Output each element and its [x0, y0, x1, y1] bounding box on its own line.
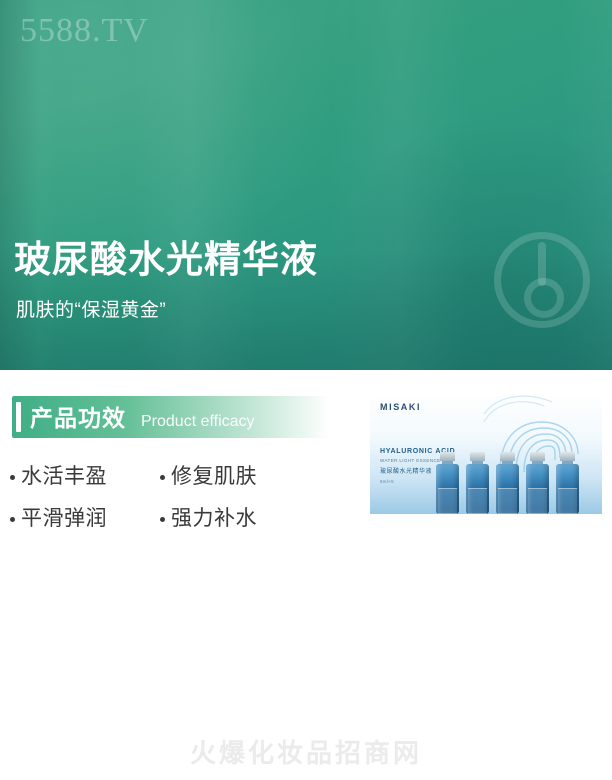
section-heading-en: Product efficacy	[141, 411, 255, 433]
feature-label: 修复肌肤	[171, 460, 257, 494]
vial-body	[496, 464, 519, 514]
section-heading-cn: 产品功效	[30, 403, 126, 433]
efficacy-section: 产品功效 Product efficacy 水活丰盈 修复肌肤 平滑弹润	[0, 370, 612, 780]
list-item: 修复肌肤	[160, 460, 257, 494]
feature-label: 平滑弹润	[21, 502, 107, 536]
ring-swirl-icon	[494, 232, 590, 328]
product-vial-group	[436, 434, 602, 514]
vial-label	[558, 488, 577, 514]
bullet-dot-icon	[10, 517, 15, 522]
vial-cap	[500, 452, 515, 461]
section-heading-accent-bar	[16, 402, 21, 432]
feature-row: 平滑弹润 强力补水	[10, 502, 350, 536]
list-item: 平滑弹润	[10, 502, 160, 536]
list-item: 强力补水	[160, 502, 257, 536]
site-watermark: 5588.TV	[20, 12, 149, 50]
product-brand: MISAKI	[380, 402, 421, 412]
footer-watermark: 火爆化妆品招商网	[0, 733, 612, 770]
bullet-dot-icon	[160, 475, 165, 480]
product-vial	[556, 452, 579, 514]
feature-label: 水活丰盈	[21, 460, 107, 494]
product-detail-page: 5588.TV 玻尿酸水光精华液 肌肤的“保湿黄金” 产品功效 Product …	[0, 0, 612, 780]
hero-banner: 5588.TV 玻尿酸水光精华液 肌肤的“保湿黄金”	[0, 0, 612, 370]
vial-cap	[470, 452, 485, 461]
product-vial	[436, 452, 459, 514]
feature-list: 水活丰盈 修复肌肤 平滑弹润 强力补水	[10, 460, 350, 544]
page-subtitle: 肌肤的“保湿黄金”	[16, 298, 166, 324]
feature-label: 强力补水	[171, 502, 257, 536]
product-title-cn: 玻尿酸水光精华液	[380, 468, 432, 477]
product-image: MISAKI HYALURONIC ACID WATER LIGHT ESSEN…	[370, 392, 602, 514]
vial-label	[438, 488, 457, 514]
bullet-dot-icon	[10, 475, 15, 480]
vial-cap	[530, 452, 545, 461]
list-item: 水活丰盈	[10, 460, 160, 494]
page-title: 玻尿酸水光精华液	[14, 238, 318, 282]
vial-body	[556, 464, 579, 514]
vial-label	[498, 488, 517, 514]
ring-inner-shape	[524, 278, 564, 318]
vial-body	[436, 464, 459, 514]
vial-body	[526, 464, 549, 514]
bullet-dot-icon	[160, 517, 165, 522]
product-subtitle-cn: 5ml×5	[380, 478, 394, 485]
vial-cap	[440, 452, 455, 461]
product-vial	[526, 452, 549, 514]
product-vial	[496, 452, 519, 514]
product-vial	[466, 452, 489, 514]
vial-label	[468, 488, 487, 514]
feature-row: 水活丰盈 修复肌肤	[10, 460, 350, 494]
vial-cap	[560, 452, 575, 461]
vial-label	[528, 488, 547, 514]
vial-body	[466, 464, 489, 514]
product-subtitle-en: WATER LIGHT ESSENCE	[380, 457, 441, 464]
